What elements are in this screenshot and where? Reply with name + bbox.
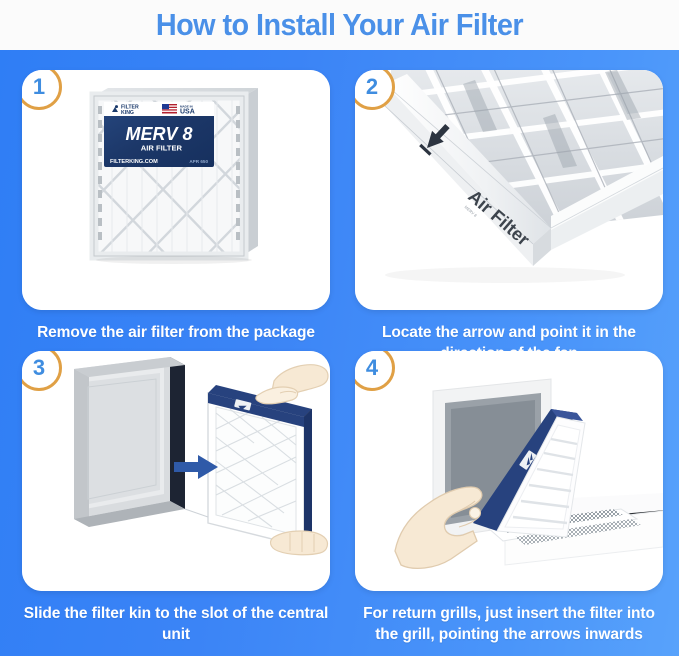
apr-rating-text: APR 650 (189, 159, 208, 164)
page-title: How to Install Your Air Filter (156, 7, 523, 43)
step-number-4: 4 (366, 357, 378, 379)
step-number-3: 3 (33, 357, 45, 379)
filter-corner-arrow-image: Air Filter MERV 8 (355, 70, 663, 310)
svg-text:USA: USA (180, 108, 195, 115)
step-panel-1: FILTER KING (22, 70, 330, 310)
step-number-1: 1 (33, 76, 45, 98)
new-filter-panel (208, 385, 312, 547)
step-1-card: FILTER KING (22, 70, 330, 310)
step-2-card: Air Filter MERV 8 2 (355, 70, 663, 310)
central-unit-slot (74, 357, 185, 527)
air-filter-product-image: FILTER KING (22, 70, 330, 310)
step-3-card: 3 (22, 351, 330, 591)
step-caption-1: Remove the air filter from the package (22, 322, 330, 343)
infographic-poster: How to Install Your Air Filter (0, 0, 679, 656)
website-text: FILTERKING.COM (110, 159, 158, 165)
step-panel-4: 4 For return grills, just insert the fil… (355, 351, 663, 591)
hand-bottom (271, 531, 328, 555)
step-caption-4: For return grills, just insert the filte… (355, 603, 663, 645)
step-4-card: 4 (355, 351, 663, 591)
step-panel-3: 3 Slide the filter kin to the slot of th… (22, 351, 330, 591)
insert-filter-return-grill-image (355, 351, 663, 591)
step-panel-2: Air Filter MERV 8 2 Locate the arrow and… (355, 70, 663, 310)
filter-label: FILTER KING (104, 102, 214, 167)
slide-filter-into-slot-image (22, 351, 330, 591)
steps-grid: FILTER KING (0, 50, 679, 656)
poster-header: How to Install Your Air Filter (0, 0, 679, 50)
steps-board: FILTER KING (0, 50, 679, 656)
air-filter-subtitle: AIR FILTER (141, 144, 183, 153)
step-number-2: 2 (366, 76, 378, 98)
step-caption-3: Slide the filter kin to the slot of the … (22, 603, 330, 645)
svg-text:KING: KING (121, 110, 134, 116)
merv-rating-text: MERV 8 (125, 124, 192, 144)
